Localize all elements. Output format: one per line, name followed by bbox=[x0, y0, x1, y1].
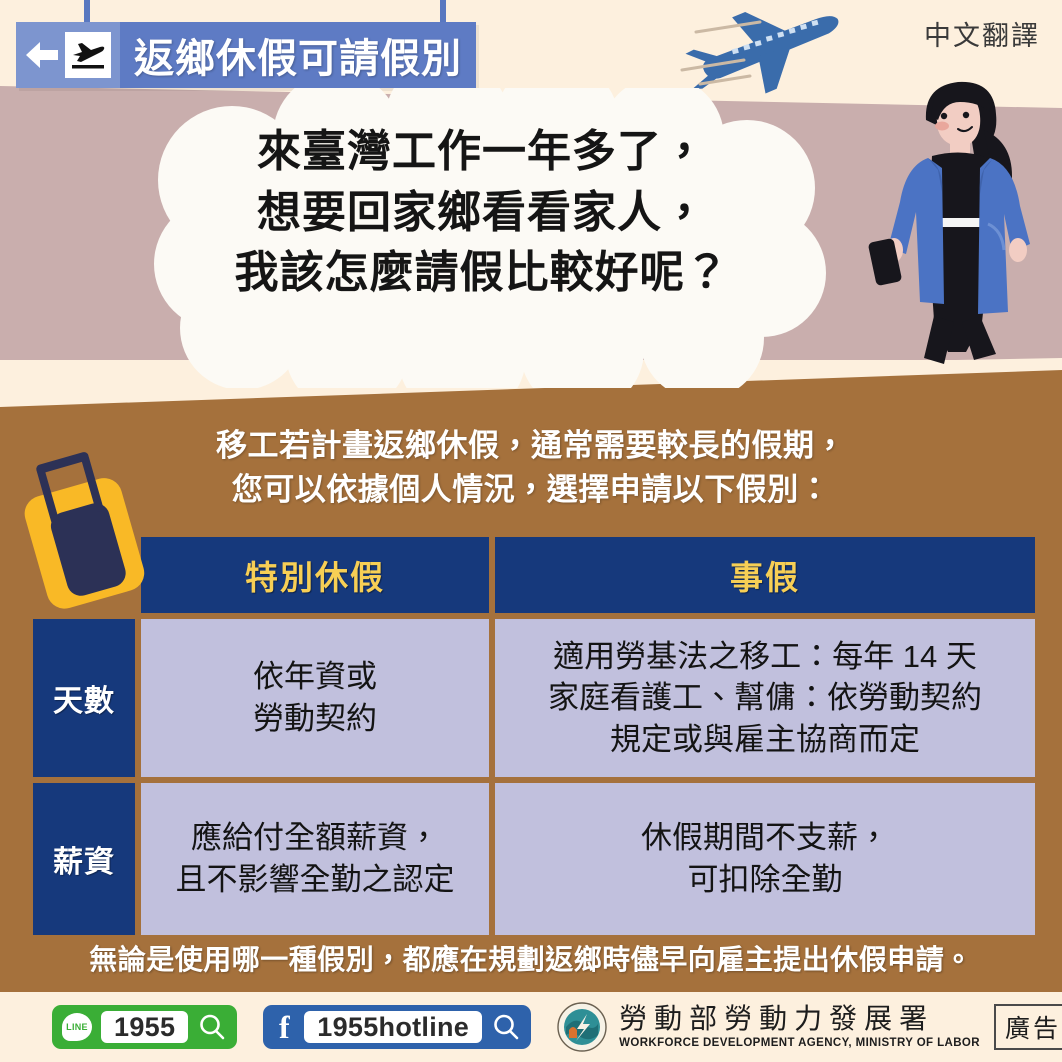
intro-text: 移工若計畫返鄉休假，通常需要較長的假期， 您可以依據個人情況，選擇申請以下假別： bbox=[0, 424, 1062, 512]
agency-name-group: 勞動部勞動力發展署 WORKFORCE DEVELOPMENT AGENCY, … bbox=[619, 1005, 980, 1050]
back-arrow-icon[interactable] bbox=[25, 40, 59, 70]
line-id-value: 1955 bbox=[101, 1011, 188, 1043]
search-icon[interactable] bbox=[491, 1012, 521, 1042]
row-label-days: 天數 bbox=[33, 619, 135, 777]
table-row: 薪資 應給付全額薪資， 且不影響全勤之認定 休假期間不支薪， 可扣除全勤 bbox=[33, 783, 1035, 935]
cell-line: 適用勞基法之移工：每年 14 天 bbox=[505, 636, 1025, 678]
cell-line: 休假期間不支薪， bbox=[505, 817, 1025, 859]
cell-salary-personal-leave: 休假期間不支薪， 可扣除全勤 bbox=[495, 783, 1035, 935]
agency-name-zh: 勞動部勞動力發展署 bbox=[619, 1005, 980, 1033]
speech-line-1: 來臺灣工作一年多了， bbox=[102, 122, 862, 183]
infographic-poster: 返鄉休假可請假別 中文翻譯 bbox=[0, 0, 1062, 1062]
banner-title: 返鄉休假可請假別 bbox=[120, 26, 476, 84]
airplane-icon bbox=[65, 32, 111, 78]
cell-line: 依年資或 bbox=[151, 656, 479, 698]
table-header-special-leave: 特別休假 bbox=[141, 537, 489, 613]
ministry-of-labor-logo-icon bbox=[557, 1002, 607, 1052]
cell-line: 可扣除全勤 bbox=[505, 859, 1025, 901]
footer-bar: LINE 1955 f 1955hotline bbox=[0, 992, 1062, 1062]
table-header-row: 特別休假 事假 bbox=[33, 537, 1035, 613]
cell-line: 家庭看護工、幫傭：依勞動契約 bbox=[505, 677, 1025, 719]
title-banner: 返鄉休假可請假別 bbox=[16, 22, 476, 88]
suitcase-illustration bbox=[18, 450, 158, 615]
agency-branding: 勞動部勞動力發展署 WORKFORCE DEVELOPMENT AGENCY, … bbox=[557, 1002, 980, 1052]
cell-days-personal-leave: 適用勞基法之移工：每年 14 天 家庭看護工、幫傭：依勞動契約 規定或與雇主協商… bbox=[495, 619, 1035, 777]
cell-line: 規定或與雇主協商而定 bbox=[505, 719, 1025, 761]
table-header-personal-leave: 事假 bbox=[495, 537, 1035, 613]
speech-bubble: 來臺灣工作一年多了， 想要回家鄉看看家人， 我該怎麼請假比較好呢？ bbox=[102, 88, 862, 388]
intro-line-2: 您可以依據個人情況，選擇申請以下假別： bbox=[0, 468, 1062, 512]
intro-line-1: 移工若計畫返鄉休假，通常需要較長的假期， bbox=[0, 424, 1062, 468]
speech-line-3: 我該怎麼請假比較好呢？ bbox=[102, 243, 862, 304]
facebook-page-value: 1955hotline bbox=[304, 1011, 482, 1043]
leave-types-table: 特別休假 事假 天數 依年資或 勞動契約 適用勞基法之移工：每年 14 天 家庭… bbox=[27, 531, 1041, 941]
speech-line-2: 想要回家鄉看看家人， bbox=[102, 183, 862, 244]
facebook-icon: f bbox=[273, 1011, 295, 1043]
facebook-contact-chip[interactable]: f 1955hotline bbox=[263, 1005, 531, 1049]
speech-bubble-text: 來臺灣工作一年多了， 想要回家鄉看看家人， 我該怎麼請假比較好呢？ bbox=[102, 122, 862, 304]
language-note: 中文翻譯 bbox=[924, 14, 1040, 53]
row-label-salary: 薪資 bbox=[33, 783, 135, 935]
line-contact-chip[interactable]: LINE 1955 bbox=[52, 1005, 237, 1049]
cell-line: 且不影響全勤之認定 bbox=[151, 859, 479, 901]
woman-illustration bbox=[862, 72, 1062, 397]
cell-salary-special-leave: 應給付全額薪資， 且不影響全勤之認定 bbox=[141, 783, 489, 935]
cell-days-special-leave: 依年資或 勞動契約 bbox=[141, 619, 489, 777]
line-icon: LINE bbox=[62, 1013, 92, 1041]
ad-label: 廣告 bbox=[994, 1004, 1062, 1050]
search-icon[interactable] bbox=[197, 1012, 227, 1042]
cell-line: 應給付全額薪資， bbox=[151, 817, 479, 859]
agency-name-en: WORKFORCE DEVELOPMENT AGENCY, MINISTRY O… bbox=[619, 1038, 980, 1050]
banner-icon-group bbox=[16, 22, 120, 88]
table-row: 天數 依年資或 勞動契約 適用勞基法之移工：每年 14 天 家庭看護工、幫傭：依… bbox=[33, 619, 1035, 777]
cell-line: 勞動契約 bbox=[151, 698, 479, 740]
bottom-note: 無論是使用哪一種假別，都應在規劃返鄉時儘早向雇主提出休假申請。 bbox=[0, 938, 1062, 978]
